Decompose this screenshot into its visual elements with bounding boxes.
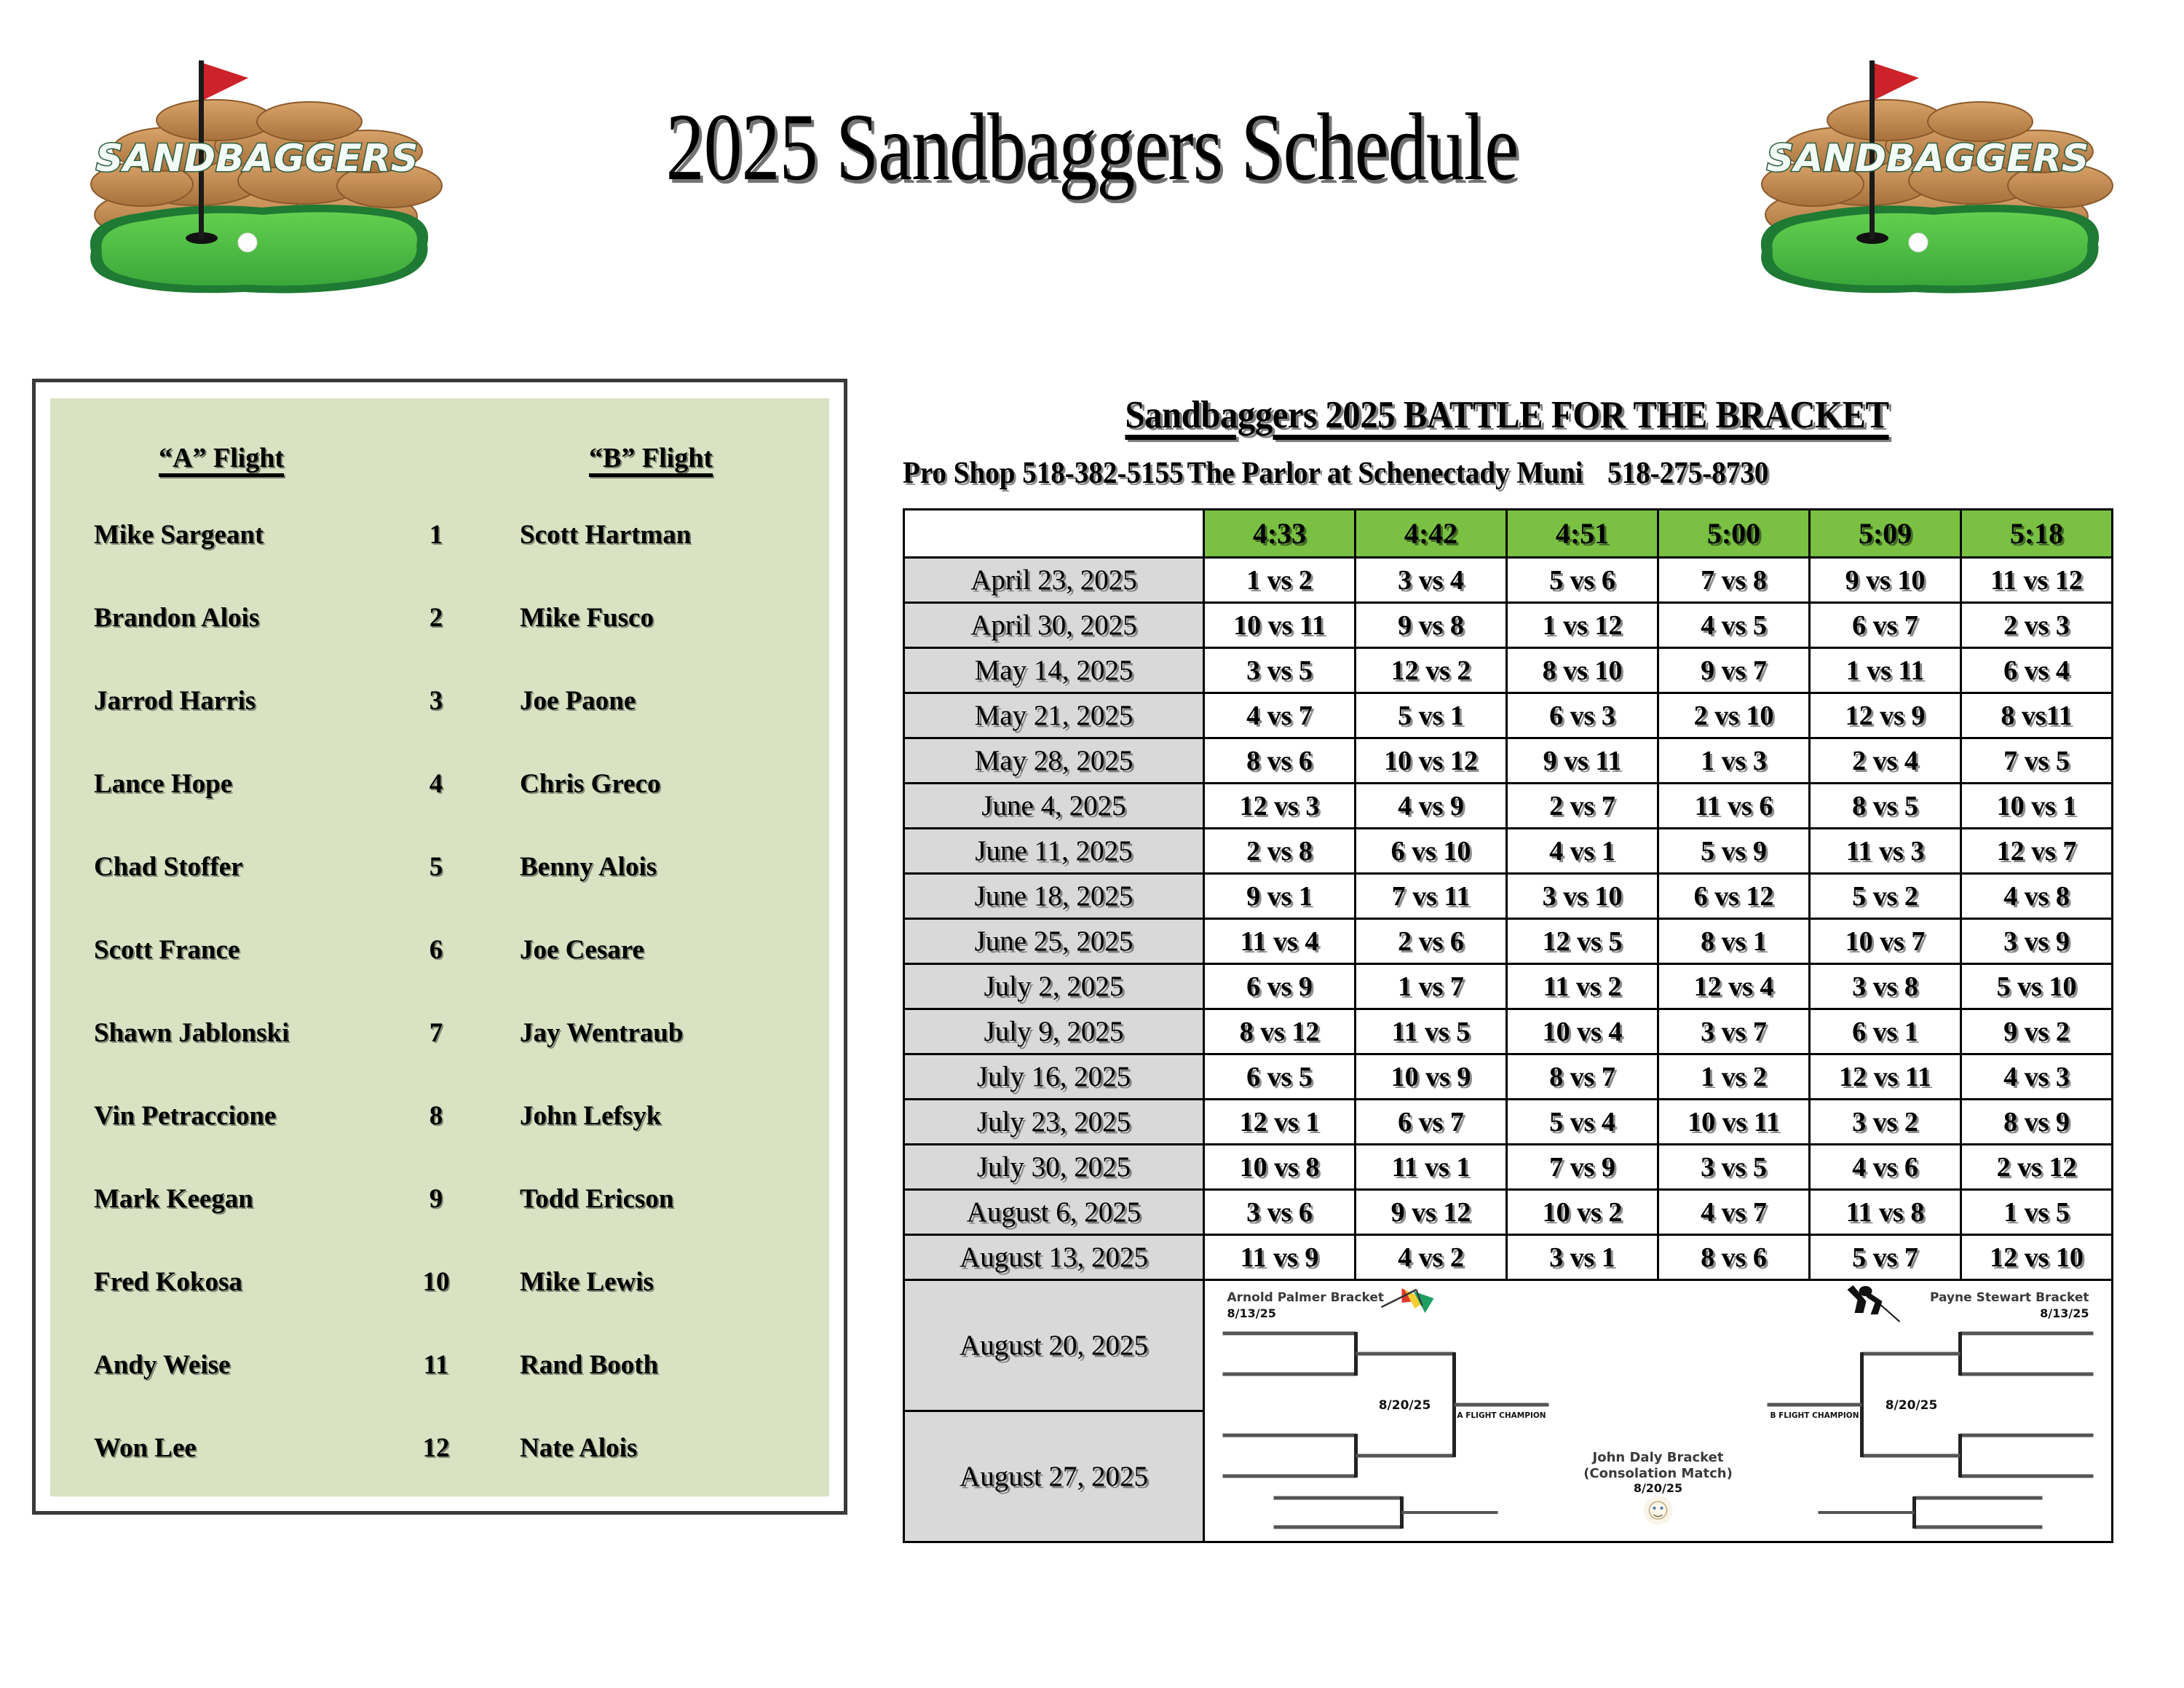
schedule-row: July 16, 2025 6 vs 5 10 vs 9 8 vs 7 1 vs… [904,1054,2113,1100]
page-title: 2025 Sandbaggers Schedule [661,91,1523,202]
match-cell: 12 vs 11 [1810,1054,1961,1100]
seed-number: 9 [392,1183,480,1215]
player-name-b: Benny Alois [480,851,822,883]
tee-time-header: 4:42 [1356,510,1507,558]
match-cell: 12 vs 5 [1507,919,1658,964]
match-cell: 4 vs 3 [1961,1054,2113,1100]
schedule-title: Sandbaggers 2025 BATTLE FOR THE BRACKET [951,393,2062,437]
match-cell: 8 vs11 [1961,693,2113,738]
match-cell: 10 vs 7 [1810,919,1961,964]
golf-ball [238,233,257,252]
match-cell: 1 vs 7 [1356,964,1507,1009]
parlor-phone: 518-275-8730 [1607,456,1768,491]
match-cell: 8 vs 10 [1507,648,1658,693]
week-date: July 16, 2025 [904,1054,1204,1100]
logo-wordmark: SANDBAGGERS [96,137,419,181]
schedule-section: Sandbaggers 2025 BATTLE FOR THE BRACKET … [903,393,2140,1543]
week-date: May 28, 2025 [904,738,1204,784]
player-name-a: Scott France [50,934,392,966]
player-name-a: Andy Weise [50,1349,392,1381]
roster-row: Vin Petraccione 8 John Lefsyk [50,1074,829,1157]
schedule-row: May 14, 2025 3 vs 5 12 vs 2 8 vs 10 9 vs… [904,648,2113,693]
match-cell: 6 vs 4 [1961,648,2113,693]
match-cell: 6 vs 7 [1356,1100,1507,1145]
match-cell: 2 vs 3 [1961,603,2113,648]
match-cell: 11 vs 12 [1961,558,2113,603]
match-cell: 11 vs 6 [1658,784,1810,829]
seed-number: 8 [392,1100,480,1132]
match-cell: 5 vs 10 [1961,964,2113,1009]
match-cell: 9 vs 10 [1810,558,1961,603]
parlor-name: The Parlor at Schenectady Muni [1187,456,1583,491]
playoff-row-aug20: August 20, 2025 Arnold Palmer Bracket 8/… [904,1280,2113,1411]
roster-rows: Mike Sargeant 1 Scott Hartman Brandon Al… [50,493,829,1489]
golfer-silhouette-icon [1848,1285,1900,1322]
match-cell: 8 vs 1 [1658,919,1810,964]
tee-time-header: 4:33 [1204,510,1356,558]
roster-row: Won Lee 12 Nate Alois [50,1406,829,1489]
schedule-row: April 23, 2025 1 vs 2 3 vs 4 5 vs 6 7 vs… [904,558,2113,603]
player-name-b: Nate Alois [480,1432,822,1464]
bracket-diagram-cell: Arnold Palmer Bracket 8/13/25 [1204,1280,2113,1542]
roster-row: Brandon Alois 2 Mike Fusco [50,576,829,659]
umbrella-icon [1382,1288,1434,1313]
match-cell: 1 vs 2 [1658,1054,1810,1100]
match-cell: 3 vs 5 [1658,1145,1810,1190]
match-cell: 3 vs 1 [1507,1235,1658,1280]
playoff-date-aug27: August 27, 2025 [904,1411,1204,1542]
week-date: June 18, 2025 [904,874,1204,919]
week-date: July 30, 2025 [904,1145,1204,1190]
match-cell: 7 vs 9 [1507,1145,1658,1190]
match-cell: 1 vs 3 [1658,738,1810,784]
week-date: July 9, 2025 [904,1009,1204,1054]
week-date: August 13, 2025 [904,1235,1204,1280]
schedule-row: April 30, 2025 10 vs 11 9 vs 8 1 vs 12 4… [904,603,2113,648]
roster-panel: “A” Flight “B” Flight Mike Sargeant 1 Sc… [32,379,847,1515]
match-cell: 2 vs 12 [1961,1145,2113,1190]
match-cell: 10 vs 11 [1204,603,1356,648]
seed-number: 12 [392,1432,480,1464]
semifinal-date-right: 8/20/25 [1886,1398,1938,1413]
week-date: June 25, 2025 [904,919,1204,964]
match-cell: 5 vs 9 [1658,829,1810,874]
player-name-a: Chad Stoffer [50,851,392,883]
match-cell: 4 vs 9 [1356,784,1507,829]
match-cell: 5 vs 4 [1507,1100,1658,1145]
schedule-row: May 21, 2025 4 vs 7 5 vs 1 6 vs 3 2 vs 1… [904,693,2113,738]
player-name-b: Mike Fusco [480,602,822,634]
schedule-table: 4:33 4:42 4:51 5:00 5:09 5:18 April 23, … [903,508,2113,1543]
match-cell: 7 vs 8 [1658,558,1810,603]
schedule-row: May 28, 2025 8 vs 6 10 vs 12 9 vs 11 1 v… [904,738,2113,784]
match-cell: 10 vs 8 [1204,1145,1356,1190]
match-cell: 12 vs 1 [1204,1100,1356,1145]
sandbaggers-logo-right: SANDBAGGERS [1740,33,2118,317]
week-date: July 23, 2025 [904,1100,1204,1145]
john-daly-label: John Daly Bracket [1591,1450,1724,1465]
player-name-a: Fred Kokosa [50,1266,392,1298]
red-flag [204,63,248,100]
match-cell: 12 vs 7 [1961,829,2113,874]
roster-row: Chad Stoffer 5 Benny Alois [50,825,829,908]
table-corner-cell [904,510,1204,558]
match-cell: 8 vs 7 [1507,1054,1658,1100]
roster-row: Mark Keegan 9 Todd Ericson [50,1157,829,1240]
match-cell: 10 vs 2 [1507,1190,1658,1235]
match-cell: 2 vs 10 [1658,693,1810,738]
tee-time-header: 5:18 [1961,510,2113,558]
a-flight-champion-label: A FLIGHT CHAMPION [1457,1411,1546,1420]
match-cell: 6 vs 3 [1507,693,1658,738]
seed-number: 11 [392,1349,480,1381]
player-name-b: Scott Hartman [480,519,822,551]
match-cell: 7 vs 5 [1961,738,2113,784]
match-cell: 3 vs 9 [1961,919,2113,964]
schedule-row: July 23, 2025 12 vs 1 6 vs 7 5 vs 4 10 v… [904,1100,2113,1145]
tee-time-header: 5:09 [1810,510,1961,558]
schedule-page: SANDBAGGERS 2025 Sandbaggers Schedule [0,0,2184,1688]
roster-row: Jarrod Harris 3 Joe Paone [50,659,829,742]
week-date: April 23, 2025 [904,558,1204,603]
match-cell: 10 vs 4 [1507,1009,1658,1054]
match-cell: 2 vs 6 [1356,919,1507,964]
roster-row: Mike Sargeant 1 Scott Hartman [50,493,829,576]
match-cell: 10 vs 9 [1356,1054,1507,1100]
match-cell: 4 vs 7 [1204,693,1356,738]
roster-row: Scott France 6 Joe Cesare [50,908,829,991]
player-name-b: Jay Wentraub [480,1017,822,1049]
match-cell: 8 vs 5 [1810,784,1961,829]
b-flight-champion-label: B FLIGHT CHAMPION [1770,1411,1859,1420]
schedule-row: July 2, 2025 6 vs 9 1 vs 7 11 vs 2 12 vs… [904,964,2113,1009]
match-cell: 1 vs 12 [1507,603,1658,648]
flight-b-header: “B” Flight [480,442,822,474]
match-cell: 9 vs 12 [1356,1190,1507,1235]
match-cell: 4 vs 7 [1658,1190,1810,1235]
match-cell: 11 vs 1 [1356,1145,1507,1190]
match-cell: 8 vs 12 [1204,1009,1356,1054]
player-name-b: Mike Lewis [480,1266,822,1298]
tee-time-header-row: 4:33 4:42 4:51 5:00 5:09 5:18 [904,510,2113,558]
match-cell: 10 vs 11 [1658,1100,1810,1145]
week-date: June 4, 2025 [904,784,1204,829]
match-cell: 12 vs 2 [1356,648,1507,693]
john-daly-sub: (Consolation Match) [1583,1466,1733,1481]
match-cell: 5 vs 7 [1810,1235,1961,1280]
roster-row: Lance Hope 4 Chris Greco [50,742,829,825]
schedule-row: June 25, 2025 11 vs 4 2 vs 6 12 vs 5 8 v… [904,919,2113,964]
match-cell: 12 vs 9 [1810,693,1961,738]
schedule-row: August 13, 2025 11 vs 9 4 vs 2 3 vs 1 8 … [904,1235,2113,1280]
match-cell: 6 vs 1 [1810,1009,1961,1054]
match-cell: 6 vs 9 [1204,964,1356,1009]
seed-number: 5 [392,851,480,883]
tee-time-header: 4:51 [1507,510,1658,558]
match-cell: 9 vs 1 [1204,874,1356,919]
match-cell: 11 vs 5 [1356,1009,1507,1054]
match-cell: 11 vs 3 [1810,829,1961,874]
payne-stewart-date: 8/13/25 [2040,1306,2089,1320]
flight-a-header: “A” Flight [50,442,392,474]
seed-number: 10 [392,1266,480,1298]
player-name-b: Joe Paone [480,685,822,717]
match-cell: 9 vs 8 [1356,603,1507,648]
player-name-b: Chris Greco [480,768,822,800]
semifinal-date-left: 8/20/25 [1379,1398,1431,1413]
lion-mascot-icon [1644,1496,1673,1525]
payne-stewart-label: Payne Stewart Bracket [1930,1290,2089,1305]
match-cell: 3 vs 8 [1810,964,1961,1009]
player-name-b: Joe Cesare [480,934,822,966]
match-cell: 11 vs 8 [1810,1190,1961,1235]
player-name-a: Brandon Alois [50,602,392,634]
match-cell: 4 vs 2 [1356,1235,1507,1280]
match-cell: 6 vs 12 [1658,874,1810,919]
match-cell: 2 vs 7 [1507,784,1658,829]
schedule-row: June 4, 2025 12 vs 3 4 vs 9 2 vs 7 11 vs… [904,784,2113,829]
match-cell: 8 vs 6 [1204,738,1356,784]
match-cell: 4 vs 5 [1658,603,1810,648]
week-date: June 11, 2025 [904,829,1204,874]
sandbaggers-logo-left: SANDBAGGERS [69,33,448,317]
match-cell: 11 vs 4 [1204,919,1356,964]
match-cell: 12 vs 10 [1961,1235,2113,1280]
match-cell: 3 vs 5 [1204,648,1356,693]
pro-shop-contact: Pro Shop 518-382-5155 [903,456,1167,491]
match-cell: 9 vs 7 [1658,648,1810,693]
match-cell: 11 vs 9 [1204,1235,1356,1280]
john-daly-date: 8/20/25 [1634,1481,1682,1495]
match-cell: 3 vs 4 [1356,558,1507,603]
roster-row: Fred Kokosa 10 Mike Lewis [50,1240,829,1323]
playoff-date-aug20: August 20, 2025 [904,1280,1204,1411]
contact-line: Pro Shop 518-382-5155 The Parlor at Sche… [903,456,2027,491]
schedule-row: July 30, 2025 10 vs 8 11 vs 1 7 vs 9 3 v… [904,1145,2113,1190]
schedule-row: July 9, 2025 8 vs 12 11 vs 5 10 vs 4 3 v… [904,1009,2113,1054]
schedule-row: June 11, 2025 2 vs 8 6 vs 10 4 vs 1 5 vs… [904,829,2113,874]
putting-green [1761,205,2099,293]
match-cell: 2 vs 8 [1204,829,1356,874]
match-cell: 5 vs 1 [1356,693,1507,738]
week-date: August 6, 2025 [904,1190,1204,1235]
bracket-diagram: Arnold Palmer Bracket 8/13/25 [1205,1281,2111,1534]
week-date: April 30, 2025 [904,603,1204,648]
schedule-row: June 18, 2025 9 vs 1 7 vs 11 3 vs 10 6 v… [904,874,2113,919]
match-cell: 1 vs 11 [1810,648,1961,693]
match-cell: 9 vs 2 [1961,1009,2113,1054]
match-cell: 12 vs 3 [1204,784,1356,829]
week-date: May 21, 2025 [904,693,1204,738]
seed-number: 3 [392,685,480,717]
match-cell: 6 vs 5 [1204,1054,1356,1100]
seed-number: 1 [392,519,480,551]
match-cell: 6 vs 10 [1356,829,1507,874]
match-cell: 3 vs 7 [1658,1009,1810,1054]
match-cell: 6 vs 7 [1810,603,1961,648]
putting-green [90,205,428,293]
player-name-b: Todd Ericson [480,1183,822,1215]
match-cell: 5 vs 6 [1507,558,1658,603]
seed-number: 4 [392,768,480,800]
match-cell: 1 vs 2 [1204,558,1356,603]
red-flag [1875,63,1919,100]
seed-header-spacer [392,442,480,474]
seed-number: 2 [392,602,480,634]
arnold-palmer-date: 8/13/25 [1227,1306,1276,1320]
match-cell: 8 vs 6 [1658,1235,1810,1280]
match-cell: 9 vs 11 [1507,738,1658,784]
match-cell: 4 vs 6 [1810,1145,1961,1190]
match-cell: 4 vs 8 [1961,874,2113,919]
player-name-a: Mark Keegan [50,1183,392,1215]
player-name-a: Lance Hope [50,768,392,800]
match-cell: 11 vs 2 [1507,964,1658,1009]
match-cell: 8 vs 9 [1961,1100,2113,1145]
player-name-b: Rand Booth [480,1349,822,1381]
match-cell: 12 vs 4 [1658,964,1810,1009]
page-header: SANDBAGGERS 2025 Sandbaggers Schedule [0,0,2184,342]
match-cell: 1 vs 5 [1961,1190,2113,1235]
match-cell: 5 vs 2 [1810,874,1961,919]
match-cell: 7 vs 11 [1356,874,1507,919]
golf-ball [1909,233,1928,252]
seed-number: 6 [392,934,480,966]
player-name-a: Won Lee [50,1432,392,1464]
match-cell: 3 vs 6 [1204,1190,1356,1235]
player-name-a: Mike Sargeant [50,519,392,551]
week-date: May 14, 2025 [904,648,1204,693]
match-cell: 3 vs 10 [1507,874,1658,919]
logo-wordmark: SANDBAGGERS [1767,137,2089,181]
seed-number: 7 [392,1017,480,1049]
week-date: July 2, 2025 [904,964,1204,1009]
roster-row: Andy Weise 11 Rand Booth [50,1323,829,1406]
arnold-palmer-label: Arnold Palmer Bracket [1227,1290,1384,1305]
player-name-b: John Lefsyk [480,1100,822,1132]
match-cell: 4 vs 1 [1507,829,1658,874]
match-cell: 10 vs 12 [1356,738,1507,784]
roster-header-row: “A” Flight “B” Flight [50,398,829,474]
match-cell: 2 vs 4 [1810,738,1961,784]
tee-time-header: 5:00 [1658,510,1810,558]
roster-row: Shawn Jablonski 7 Jay Wentraub [50,991,829,1074]
schedule-row: August 6, 2025 3 vs 6 9 vs 12 10 vs 2 4 … [904,1190,2113,1235]
match-cell: 10 vs 1 [1961,784,2113,829]
player-name-a: Vin Petraccione [50,1100,392,1132]
roster-inner: “A” Flight “B” Flight Mike Sargeant 1 Sc… [50,398,829,1496]
player-name-a: Jarrod Harris [50,685,392,717]
player-name-a: Shawn Jablonski [50,1017,392,1049]
match-cell: 3 vs 2 [1810,1100,1961,1145]
